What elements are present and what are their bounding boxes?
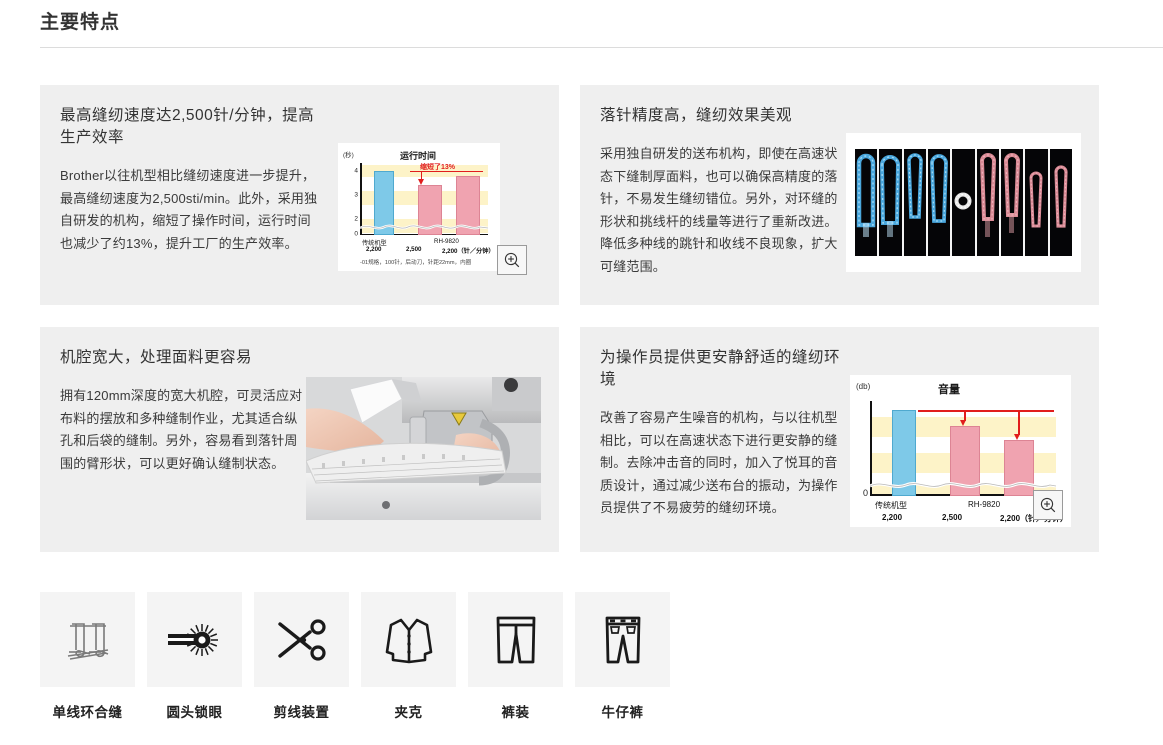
icon-tile — [254, 592, 349, 687]
eyelet-buttonhole-icon — [166, 620, 224, 660]
page-title: 主要特点 — [40, 8, 1100, 38]
chart-runtime-annotation: 缩短了13% — [420, 162, 455, 172]
chart-runtime: (秒) 运行时间 4 3 2 0 — [338, 143, 500, 271]
machine-photo-illustration — [306, 377, 541, 520]
buttonhole-stitch-icon — [977, 149, 999, 239]
icon-tile — [575, 592, 670, 687]
buttonhole-sample — [952, 149, 974, 256]
annotation-arrow-head — [960, 420, 966, 426]
capability-item-jeans[interactable]: 牛仔裤 — [575, 592, 670, 721]
icon-tile — [40, 592, 135, 687]
capability-item-chainstitch[interactable]: 单线环合缝 — [40, 592, 135, 721]
media-runtime-chart[interactable]: (秒) 运行时间 4 3 2 0 — [338, 143, 500, 271]
axis-break-squiggle — [360, 223, 488, 231]
capability-label: 剪线装置 — [254, 701, 349, 721]
eyelet-stitch-icon — [952, 188, 974, 214]
buttonhole-sample — [904, 149, 926, 256]
y-tick-label: 0 — [863, 488, 868, 498]
annotation-line — [918, 410, 1054, 412]
card-body-accuracy: 采用独自研发的送布机构，即使在高速状态下缝制厚面料，也可以确保高精度的落针，不易… — [600, 143, 845, 278]
card-body-workspace: 拥有120mm深度的宽大机腔，可灵活应对布料的摆放和多种缝制作业，尤其适合纵孔和… — [60, 385, 305, 475]
buttonhole-sample — [928, 149, 950, 256]
y-tick-label: 2 — [354, 216, 358, 223]
card-title-accuracy: 落针精度高，缝纫效果美观 — [600, 105, 845, 127]
capability-item-trousers[interactable]: 裤装 — [468, 592, 563, 721]
card-body-speed: Brother以往机型相比缝纫速度进一步提升，最高缝纫速度为2,500sti/m… — [60, 165, 320, 255]
capability-item-thread-trimmer[interactable]: 剪线装置 — [254, 592, 349, 721]
header-divider — [40, 47, 1163, 48]
chart-volume-title: 音量 — [938, 381, 960, 397]
x-sub-1: 2,500 — [942, 513, 962, 522]
feature-card-workspace: 机腔宽大，处理面料更容易 拥有120mm深度的宽大机腔，可灵活应对布料的摆放和多… — [40, 327, 559, 552]
chart-runtime-title: 运行时间 — [400, 149, 436, 162]
chart-volume-unit: (db) — [856, 382, 870, 391]
buttonhole-sample — [879, 149, 901, 256]
zoom-button-speed[interactable] — [497, 245, 527, 275]
capability-label: 裤装 — [468, 701, 563, 721]
jacket-icon — [383, 614, 435, 666]
card-body-quiet: 改善了容易产生噪音的机构，与以往机型相比，可以在高速状态下进行更安静的缝制。去除… — [600, 407, 845, 520]
card-title-quiet: 为操作员提供更安静舒适的缝纫环境 — [600, 347, 845, 391]
x-cat-0: 传统机型 — [875, 500, 907, 511]
sewing-machine-image — [306, 377, 541, 520]
annotation-arrow-shaft — [1018, 411, 1020, 435]
media-buttonhole-photo[interactable] — [846, 133, 1081, 272]
chart-runtime-plot: 4 3 2 0 缩短了13% — [360, 163, 488, 235]
buttonhole-sample — [1025, 149, 1047, 256]
buttonhole-stitch-icon — [1050, 164, 1072, 240]
buttonhole-stitch-icon — [1001, 149, 1023, 235]
feature-card-speed: 最高缝纫速度达2,500针/分钟，提高生产效率 Brother以往机型相比缝纫速… — [40, 85, 559, 305]
x-sub-0: 2,200 — [366, 246, 381, 253]
icon-tile — [361, 592, 456, 687]
y-tick-label: 3 — [354, 192, 358, 199]
y-tick-label: 0 — [354, 231, 358, 238]
chart-runtime-unit: (秒) — [343, 149, 354, 159]
feature-card-quiet: 为操作员提供更安静舒适的缝纫环境 改善了容易产生噪音的机构，与以往机型相比，可以… — [580, 327, 1099, 552]
media-machine-photo[interactable] — [306, 377, 541, 520]
page-root: 主要特点 最高缝纫速度达2,500针/分钟，提高生产效率 Brother以往机型… — [0, 0, 1163, 745]
axis-break-squiggle — [870, 480, 1056, 490]
chart-runtime-note: -01规格，100针，后动刀，针距22mm，内圈 — [360, 258, 471, 266]
x-sub-1: 2,500 — [406, 246, 421, 253]
annotation-arrow-head — [418, 179, 424, 185]
capability-label: 圆头锁眼 — [147, 701, 242, 721]
jeans-icon — [600, 614, 646, 666]
capability-label: 单线环合缝 — [40, 701, 135, 721]
trousers-icon — [493, 614, 539, 666]
card-text-quiet: 为操作员提供更安静舒适的缝纫环境 改善了容易产生噪音的机构，与以往机型相比，可以… — [600, 347, 845, 520]
card-title-speed: 最高缝纫速度达2,500针/分钟，提高生产效率 — [60, 105, 320, 149]
zoom-button-quiet[interactable] — [1033, 490, 1063, 520]
x-cat-1: RH-9820 — [968, 500, 1000, 509]
y-tick-label: 4 — [354, 168, 358, 175]
icon-tile — [468, 592, 563, 687]
buttonhole-sample — [977, 149, 999, 256]
x-cat-1: RH-9820 — [434, 238, 459, 245]
x-sub-2: 2,200（针／分钟） — [442, 246, 495, 255]
annotation-arrow-head — [1014, 434, 1020, 440]
icon-tile — [147, 592, 242, 687]
buttonhole-sample-strip — [855, 149, 1072, 256]
capability-item-jacket[interactable]: 夹克 — [361, 592, 456, 721]
capability-item-eyelet[interactable]: 圆头锁眼 — [147, 592, 242, 721]
capability-label: 牛仔裤 — [575, 701, 670, 721]
feature-card-accuracy: 落针精度高，缝纫效果美观 采用独自研发的送布机构，即使在高速状态下缝制厚面料，也… — [580, 85, 1099, 305]
capability-icon-row: 单线环合缝 — [40, 592, 670, 721]
capability-label: 夹克 — [361, 701, 456, 721]
buttonhole-stitch-icon — [855, 149, 877, 239]
buttonhole-sample — [1050, 149, 1072, 256]
buttonhole-sample — [855, 149, 877, 256]
buttonhole-sample — [1001, 149, 1023, 256]
card-text-accuracy: 落针精度高，缝纫效果美观 采用独自研发的送布机构，即使在高速状态下缝制厚面料，也… — [600, 105, 845, 278]
card-text-speed: 最高缝纫速度达2,500针/分钟，提高生产效率 Brother以往机型相比缝纫速… — [60, 105, 320, 255]
card-text-workspace: 机腔宽大，处理面料更容易 拥有120mm深度的宽大机腔，可灵活应对布料的摆放和多… — [60, 347, 305, 475]
scissors-icon — [274, 616, 330, 664]
chainstitch-icon — [60, 612, 116, 668]
magnifier-plus-icon — [1039, 496, 1057, 514]
buttonhole-stitch-icon — [1025, 170, 1047, 240]
chart-volume-plot: 0 — [870, 401, 1056, 496]
buttonhole-stitch-icon — [879, 149, 901, 239]
buttonhole-stitch-icon — [928, 149, 950, 235]
magnifier-plus-icon — [503, 251, 521, 269]
section-header: 主要特点 — [40, 8, 1100, 48]
x-sub-0: 2,200 — [882, 513, 902, 522]
buttonhole-stitch-icon — [904, 149, 926, 229]
card-title-workspace: 机腔宽大，处理面料更容易 — [60, 347, 305, 369]
